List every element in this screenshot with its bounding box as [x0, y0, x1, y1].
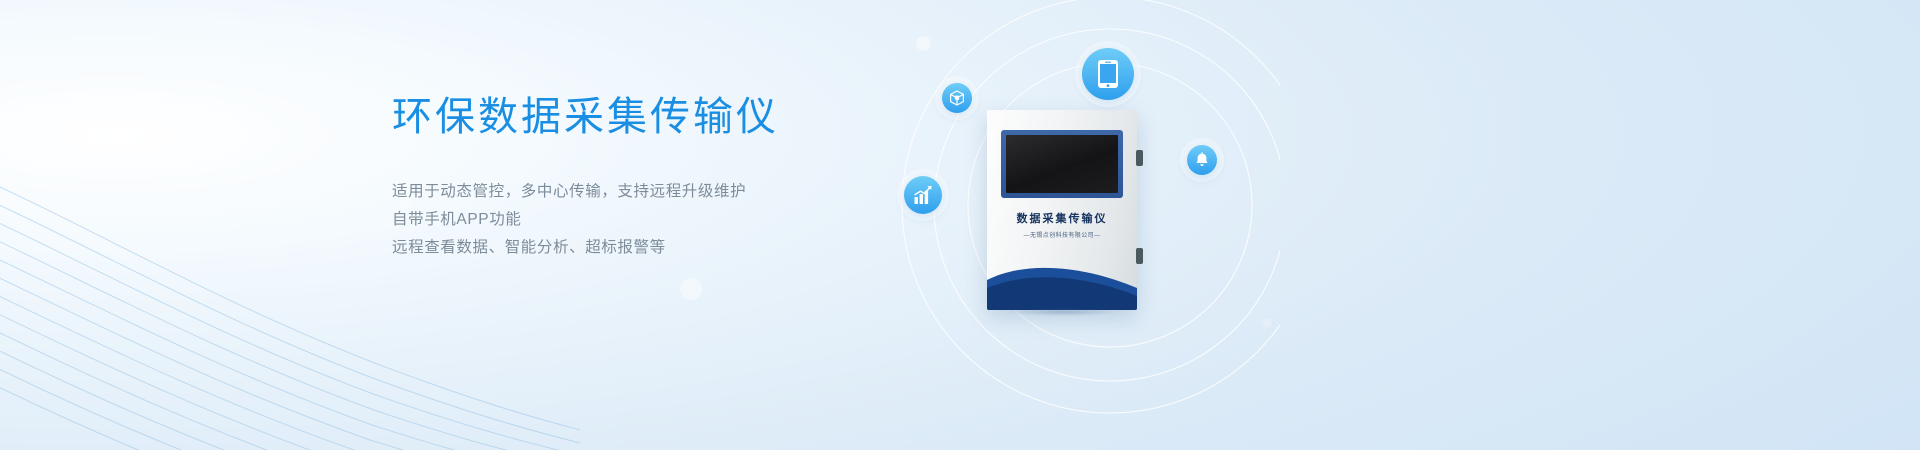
- device-label: 数据采集传输仪: [987, 210, 1137, 226]
- hero-banner: 环保数据采集传输仪 适用于动态管控，多中心传输，支持远程升级维护 自带手机APP…: [0, 0, 1920, 450]
- mobile-phone-icon[interactable]: [1082, 48, 1134, 100]
- device-company-label: —无锡点创科技有限公司—: [987, 230, 1137, 239]
- cube-box-icon[interactable]: [942, 83, 972, 113]
- subtitle-line-3: 远程查看数据、智能分析、超标报警等: [392, 234, 912, 262]
- data-acquisition-device: 数据采集传输仪 —无锡点创科技有限公司—: [987, 110, 1137, 310]
- device-screen-bezel: [1001, 130, 1123, 198]
- device-hinge-bottom: [1136, 248, 1143, 264]
- device-cabinet: 数据采集传输仪 —无锡点创科技有限公司—: [987, 110, 1137, 310]
- device-hinge-top: [1136, 150, 1143, 166]
- product-illustration: 数据采集传输仪 —无锡点创科技有限公司—: [860, 0, 1280, 450]
- device-wave-decor: [987, 258, 1137, 310]
- page-title: 环保数据采集传输仪: [392, 92, 912, 142]
- subtitle-line-1: 适用于动态管控，多中心传输，支持远程升级维护: [392, 178, 912, 206]
- subtitle-line-2: 自带手机APP功能: [392, 206, 912, 234]
- hero-text-block: 环保数据采集传输仪 适用于动态管控，多中心传输，支持远程升级维护 自带手机APP…: [392, 92, 912, 262]
- device-shadow: [984, 306, 1142, 318]
- device-screen: [1006, 135, 1118, 193]
- alarm-bell-icon[interactable]: [1187, 145, 1217, 175]
- bar-chart-icon[interactable]: [904, 176, 942, 214]
